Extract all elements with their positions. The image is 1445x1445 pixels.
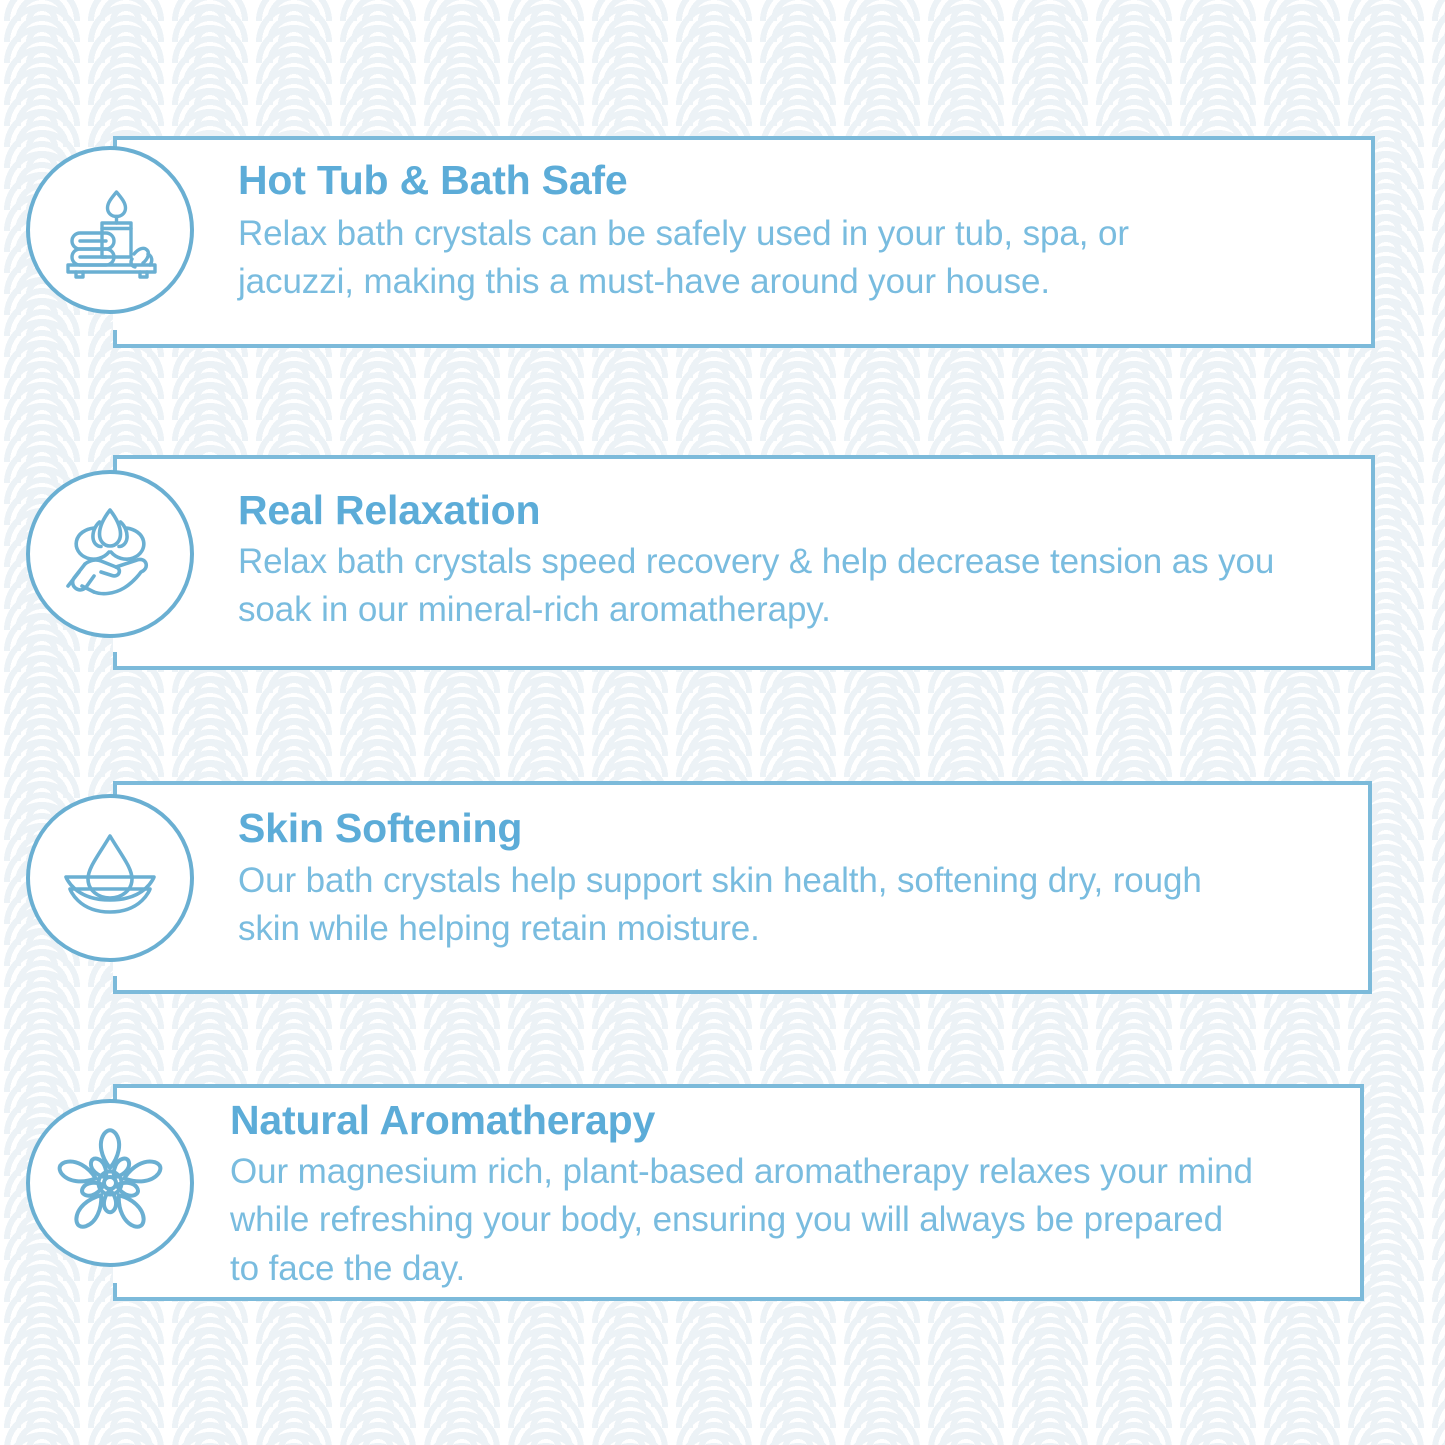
feature-title: Natural Aromatherapy	[230, 1100, 1260, 1141]
feature-description: Relax bath crystals can be safely used i…	[238, 210, 1238, 307]
feature-description: Our bath crystals help support skin heal…	[238, 857, 1238, 954]
feature-text-block: Natural Aromatherapy Our magnesium rich,…	[230, 1100, 1260, 1293]
feature-title: Hot Tub & Bath Safe	[238, 160, 1238, 201]
feature-text-block: Hot Tub & Bath Safe Relax bath crystals …	[238, 160, 1238, 307]
feature-description: Relax bath crystals speed recovery & hel…	[238, 538, 1308, 635]
infographic-page: Hot Tub & Bath Safe Relax bath crystals …	[0, 0, 1445, 1445]
hand-holding-lotus-icon	[26, 470, 194, 638]
feature-text-block: Skin Softening Our bath crystals help su…	[238, 808, 1238, 954]
five-petal-flower-icon	[26, 1099, 194, 1267]
water-droplet-leaves-icon	[26, 794, 194, 962]
feature-title: Skin Softening	[238, 808, 1238, 849]
feature-text-block: Real Relaxation Relax bath crystals spee…	[238, 490, 1308, 635]
feature-title: Real Relaxation	[238, 490, 1308, 531]
feature-description: Our magnesium rich, plant-based aromathe…	[230, 1148, 1260, 1293]
candle-towels-spa-icon	[26, 146, 194, 314]
